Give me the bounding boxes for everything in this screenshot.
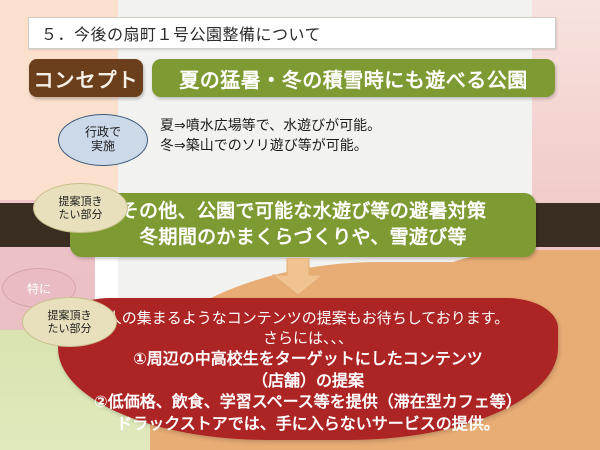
administration-badge-line1: 行政で — [85, 126, 121, 140]
proposal-red-line2: さらには、、、 — [263, 328, 353, 348]
proposal-red-line6: ドラックストアでは、手に入らないサービスの提供。 — [116, 413, 500, 434]
page-title-text: ５．今後の扇町１号公園整備について — [41, 21, 321, 45]
down-arrow-icon — [272, 258, 324, 296]
proposal-red-badge-line2: たい部分 — [48, 322, 92, 335]
concept-statement-box: 夏の猛暑・冬の積雪時にも遊べる公園 — [152, 59, 555, 97]
proposal-red-line4: （店舗）の提案 — [252, 370, 364, 391]
proposal-green-badge-line2: たい部分 — [59, 208, 103, 221]
emphasis-badge-text: 特に — [27, 280, 51, 297]
slide-canvas: ５．今後の扇町１号公園整備について コンセプト 夏の猛暑・冬の積雪時にも遊べる公… — [0, 0, 600, 450]
concept-statement-text: 夏の猛暑・冬の積雪時にも遊べる公園 — [179, 64, 528, 93]
proposal-green-line1: その他、公園で可能な水遊び等の避暑対策 — [120, 199, 487, 225]
concept-label-badge: コンセプト — [29, 59, 143, 97]
proposal-red-badge-line1: 提案頂き — [48, 309, 92, 322]
concept-label-text: コンセプト — [34, 64, 139, 93]
proposal-green-box: その他、公園で可能な水遊び等の避暑対策 冬期間のかまくらづくりや、雪遊び等 — [70, 193, 536, 257]
administration-description: 夏⇒噴水広場等で、水遊びが可能。 冬⇒築山でのソリ遊び等が可能。 — [160, 116, 540, 157]
proposal-red-badge: 提案頂き たい部分 — [22, 297, 117, 347]
background-bar-brown-right — [529, 203, 600, 247]
page-title: ５．今後の扇町１号公園整備について — [28, 17, 556, 49]
administration-line-summer: 夏⇒噴水広場等で、水遊びが可能。 — [160, 116, 540, 136]
proposal-red-line5: ②低価格、飲食、学習スペース等を提供（滞在型カフェ等） — [94, 391, 522, 412]
proposal-green-badge: 提案頂き たい部分 — [33, 183, 128, 233]
proposal-red-line1: 人の集まるようなコンテンツの提案もお待ちしております。 — [107, 308, 510, 328]
proposal-red-line3: ①周辺の中高校生をターゲットにしたコンテンツ — [133, 348, 483, 369]
proposal-red-text-block: 人の集まるようなコンテンツの提案もお待ちしております。 さらには、、、 ①周辺の… — [58, 308, 558, 434]
administration-line-winter: 冬⇒築山でのソリ遊び等が可能。 — [160, 136, 540, 156]
proposal-green-line2: 冬期間のかまくらづくりや、雪遊び等 — [139, 225, 467, 251]
proposal-green-badge-line1: 提案頂き — [59, 195, 103, 208]
administration-badge-line2: 実施 — [91, 140, 115, 154]
proposal-red-box: 人の集まるようなコンテンツの提案もお待ちしております。 さらには、、、 ①周辺の… — [58, 298, 558, 440]
administration-badge: 行政で 実施 — [58, 114, 148, 166]
